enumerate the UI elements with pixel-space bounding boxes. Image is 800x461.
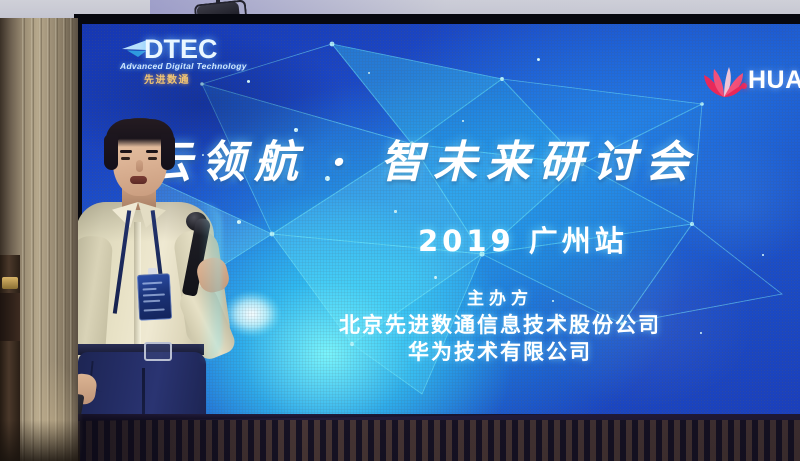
event-title: 云领航 · 智未来研讨会 <box>148 126 788 190</box>
wood-wall-shading <box>74 414 800 461</box>
huawei-petal-icon <box>702 64 746 98</box>
badge-text-line <box>143 300 160 303</box>
badge-text-line <box>142 282 162 285</box>
badge-text-line <box>144 308 165 311</box>
speaker-hair-side-right <box>161 134 175 170</box>
stage-wood-wall <box>74 414 800 461</box>
organizer-company-2: 华为技术有限公司 <box>300 338 700 365</box>
organizer-company-1: 北京先进数通信息技术股份公司 <box>300 311 700 338</box>
badge-text-line <box>143 293 165 296</box>
speaker-hair-side-left <box>104 134 118 170</box>
dtec-chinese-name: 先进数通 <box>144 71 190 86</box>
speaker-nose <box>136 160 143 172</box>
organizer-block: 主办方 北京先进数通信息技术股份公司 华为技术有限公司 <box>300 288 700 365</box>
huawei-wordmark: HUA <box>748 66 800 95</box>
badge <box>137 273 172 321</box>
huawei-logo: HUA <box>702 60 800 102</box>
speaker-eye-right <box>148 157 157 160</box>
curtain-base-shadow <box>0 420 80 461</box>
speaker <box>60 118 240 461</box>
speaker-mouth <box>130 176 147 184</box>
door-lower-panel <box>0 293 20 341</box>
huawei-dot-icon <box>741 83 747 89</box>
speaker-brow-left <box>120 150 132 153</box>
door-handle-icon[interactable] <box>2 277 18 289</box>
speaker-brow-right <box>146 150 158 153</box>
conference-photo: DTEC Advanced Digital Technology 先进数通 HU… <box>0 0 800 461</box>
dtec-tagline: Advanced Digital Technology <box>120 61 247 71</box>
screen-rim-light <box>200 202 222 362</box>
dtec-logo: DTEC Advanced Digital Technology 先进数通 <box>118 34 238 82</box>
speaker-eye-left <box>121 157 130 160</box>
event-subtitle: 2019 广州站 <box>418 218 628 260</box>
badge-text-line <box>143 288 157 291</box>
organizer-label: 主办方 <box>300 288 700 311</box>
belt-buckle <box>144 342 172 361</box>
